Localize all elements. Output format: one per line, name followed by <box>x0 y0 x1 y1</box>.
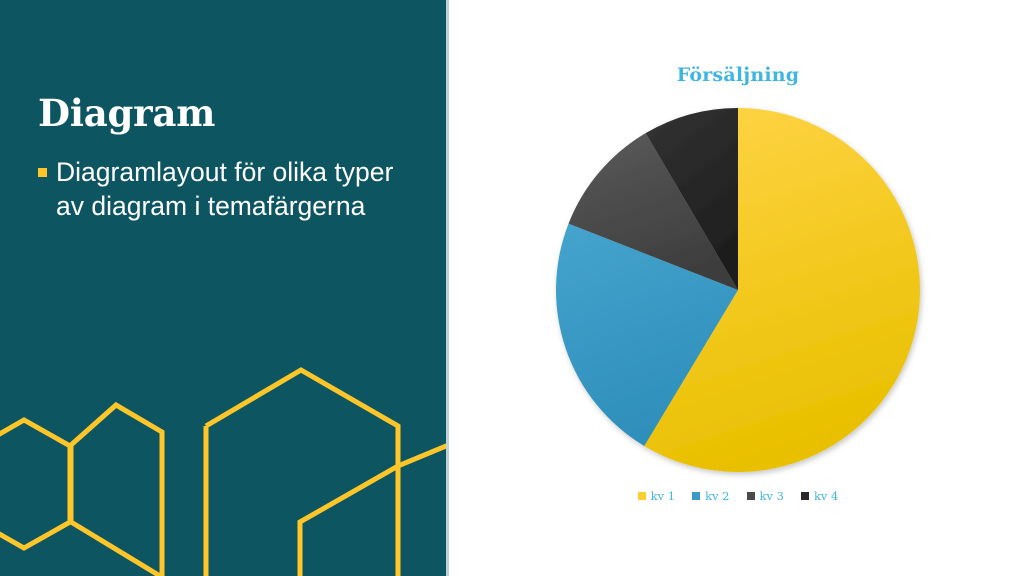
legend-item-kv-1[interactable]: kv 1 <box>638 489 675 503</box>
legend-item-kv-2[interactable]: kv 2 <box>692 489 729 503</box>
left-title-panel: Diagram Diagramlayout för olika typer av… <box>0 0 448 576</box>
square-bullet-icon <box>38 168 47 177</box>
legend-label: kv 2 <box>705 489 729 503</box>
chart-legend: kv 1kv 2kv 3kv 4 <box>452 489 1024 503</box>
chart-area: Försäljning <box>452 0 1024 576</box>
building-outline-icon <box>0 340 448 576</box>
legend-item-kv-4[interactable]: kv 4 <box>801 489 838 503</box>
legend-swatch-icon <box>638 492 646 500</box>
legend-swatch-icon <box>692 492 700 500</box>
legend-label: kv 1 <box>651 489 675 503</box>
legend-label: kv 4 <box>814 489 838 503</box>
page-title: Diagram <box>38 93 418 134</box>
list-item: Diagramlayout för olika typer av diagram… <box>38 155 398 224</box>
pie-slice-group <box>556 108 920 472</box>
legend-item-kv-3[interactable]: kv 3 <box>747 489 784 503</box>
title-block: Diagram <box>38 93 418 134</box>
legend-swatch-icon <box>801 492 809 500</box>
bullet-list: Diagramlayout för olika typer av diagram… <box>38 155 398 224</box>
panel-edge-divider <box>446 0 449 576</box>
slide-canvas: Diagram Diagramlayout för olika typer av… <box>0 0 1024 576</box>
bullet-text: Diagramlayout för olika typer av diagram… <box>56 155 398 224</box>
legend-label: kv 3 <box>760 489 784 503</box>
legend-swatch-icon <box>747 492 755 500</box>
